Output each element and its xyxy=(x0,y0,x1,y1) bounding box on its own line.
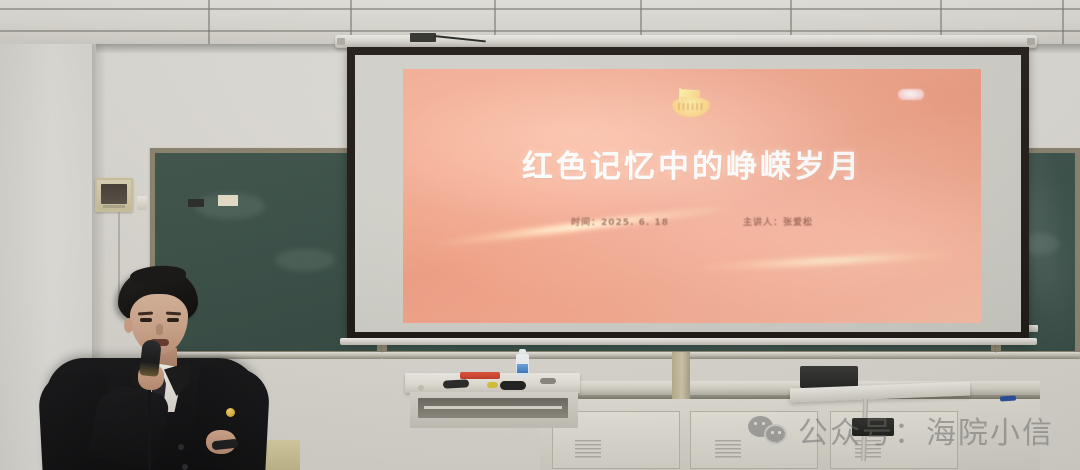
presenter-nose xyxy=(156,324,163,335)
microphone-icon xyxy=(139,339,162,377)
wall-pillar xyxy=(672,352,690,400)
board-clip-left xyxy=(188,199,204,207)
desk-small-object[interactable] xyxy=(487,382,498,388)
cabinet-vent-2 xyxy=(715,440,741,460)
presenter-shoulder-right xyxy=(193,366,270,470)
side-monitor xyxy=(800,366,858,388)
water-bottle-label xyxy=(517,364,528,373)
presenter-eye-right xyxy=(167,318,179,322)
presenter-jacket-button-1 xyxy=(178,444,184,450)
wall-speaker xyxy=(95,178,133,212)
teacher-podium-shelf-edge xyxy=(424,406,562,409)
wall-speaker-grill xyxy=(101,184,127,204)
projected-slide: 红色记忆中的峥嵘岁月 时间：2025. 6. 18 主讲人：张爱松 xyxy=(403,69,981,323)
projector-screen-bracket xyxy=(410,33,436,42)
wechat-icon xyxy=(748,414,788,446)
water-bottle-cap[interactable] xyxy=(519,349,526,355)
presenter-jacket-button-2 xyxy=(182,464,188,470)
slide-vignette xyxy=(403,69,981,323)
projection-screen: 红色记忆中的峥嵘岁月 时间：2025. 6. 18 主讲人：张爱松 xyxy=(347,47,1029,340)
desk-marker-2[interactable] xyxy=(500,381,526,390)
presenter-eye-left xyxy=(140,318,152,322)
watermark-text: 公众号：海院小信 xyxy=(798,408,1054,452)
board-note xyxy=(218,195,238,206)
wall-speaker-slot xyxy=(103,205,125,208)
cabinet-vent-1 xyxy=(575,440,601,460)
desk-marker-1[interactable] xyxy=(443,379,469,388)
watermark: 公众号：海院小信 xyxy=(748,408,1054,452)
presenter-lapel-pin xyxy=(226,408,235,417)
chalk-tray-right xyxy=(996,352,1080,359)
podium-knob[interactable] xyxy=(418,385,424,391)
chalk-box[interactable] xyxy=(460,372,500,379)
projection-screen-surface: 红色记忆中的峥嵘岁月 时间：2025. 6. 18 主讲人：张爱松 xyxy=(355,55,1021,332)
desk-eraser[interactable] xyxy=(540,378,556,384)
wall-switch[interactable] xyxy=(137,196,147,210)
classroom-lecture-photo: 红色记忆中的峥嵘岁月 时间：2025. 6. 18 主讲人：张爱松 xyxy=(0,0,1080,470)
presenter-with-microphone xyxy=(38,268,268,470)
projection-screen-weight-bar xyxy=(340,338,1037,345)
presenter-ear xyxy=(124,318,133,333)
